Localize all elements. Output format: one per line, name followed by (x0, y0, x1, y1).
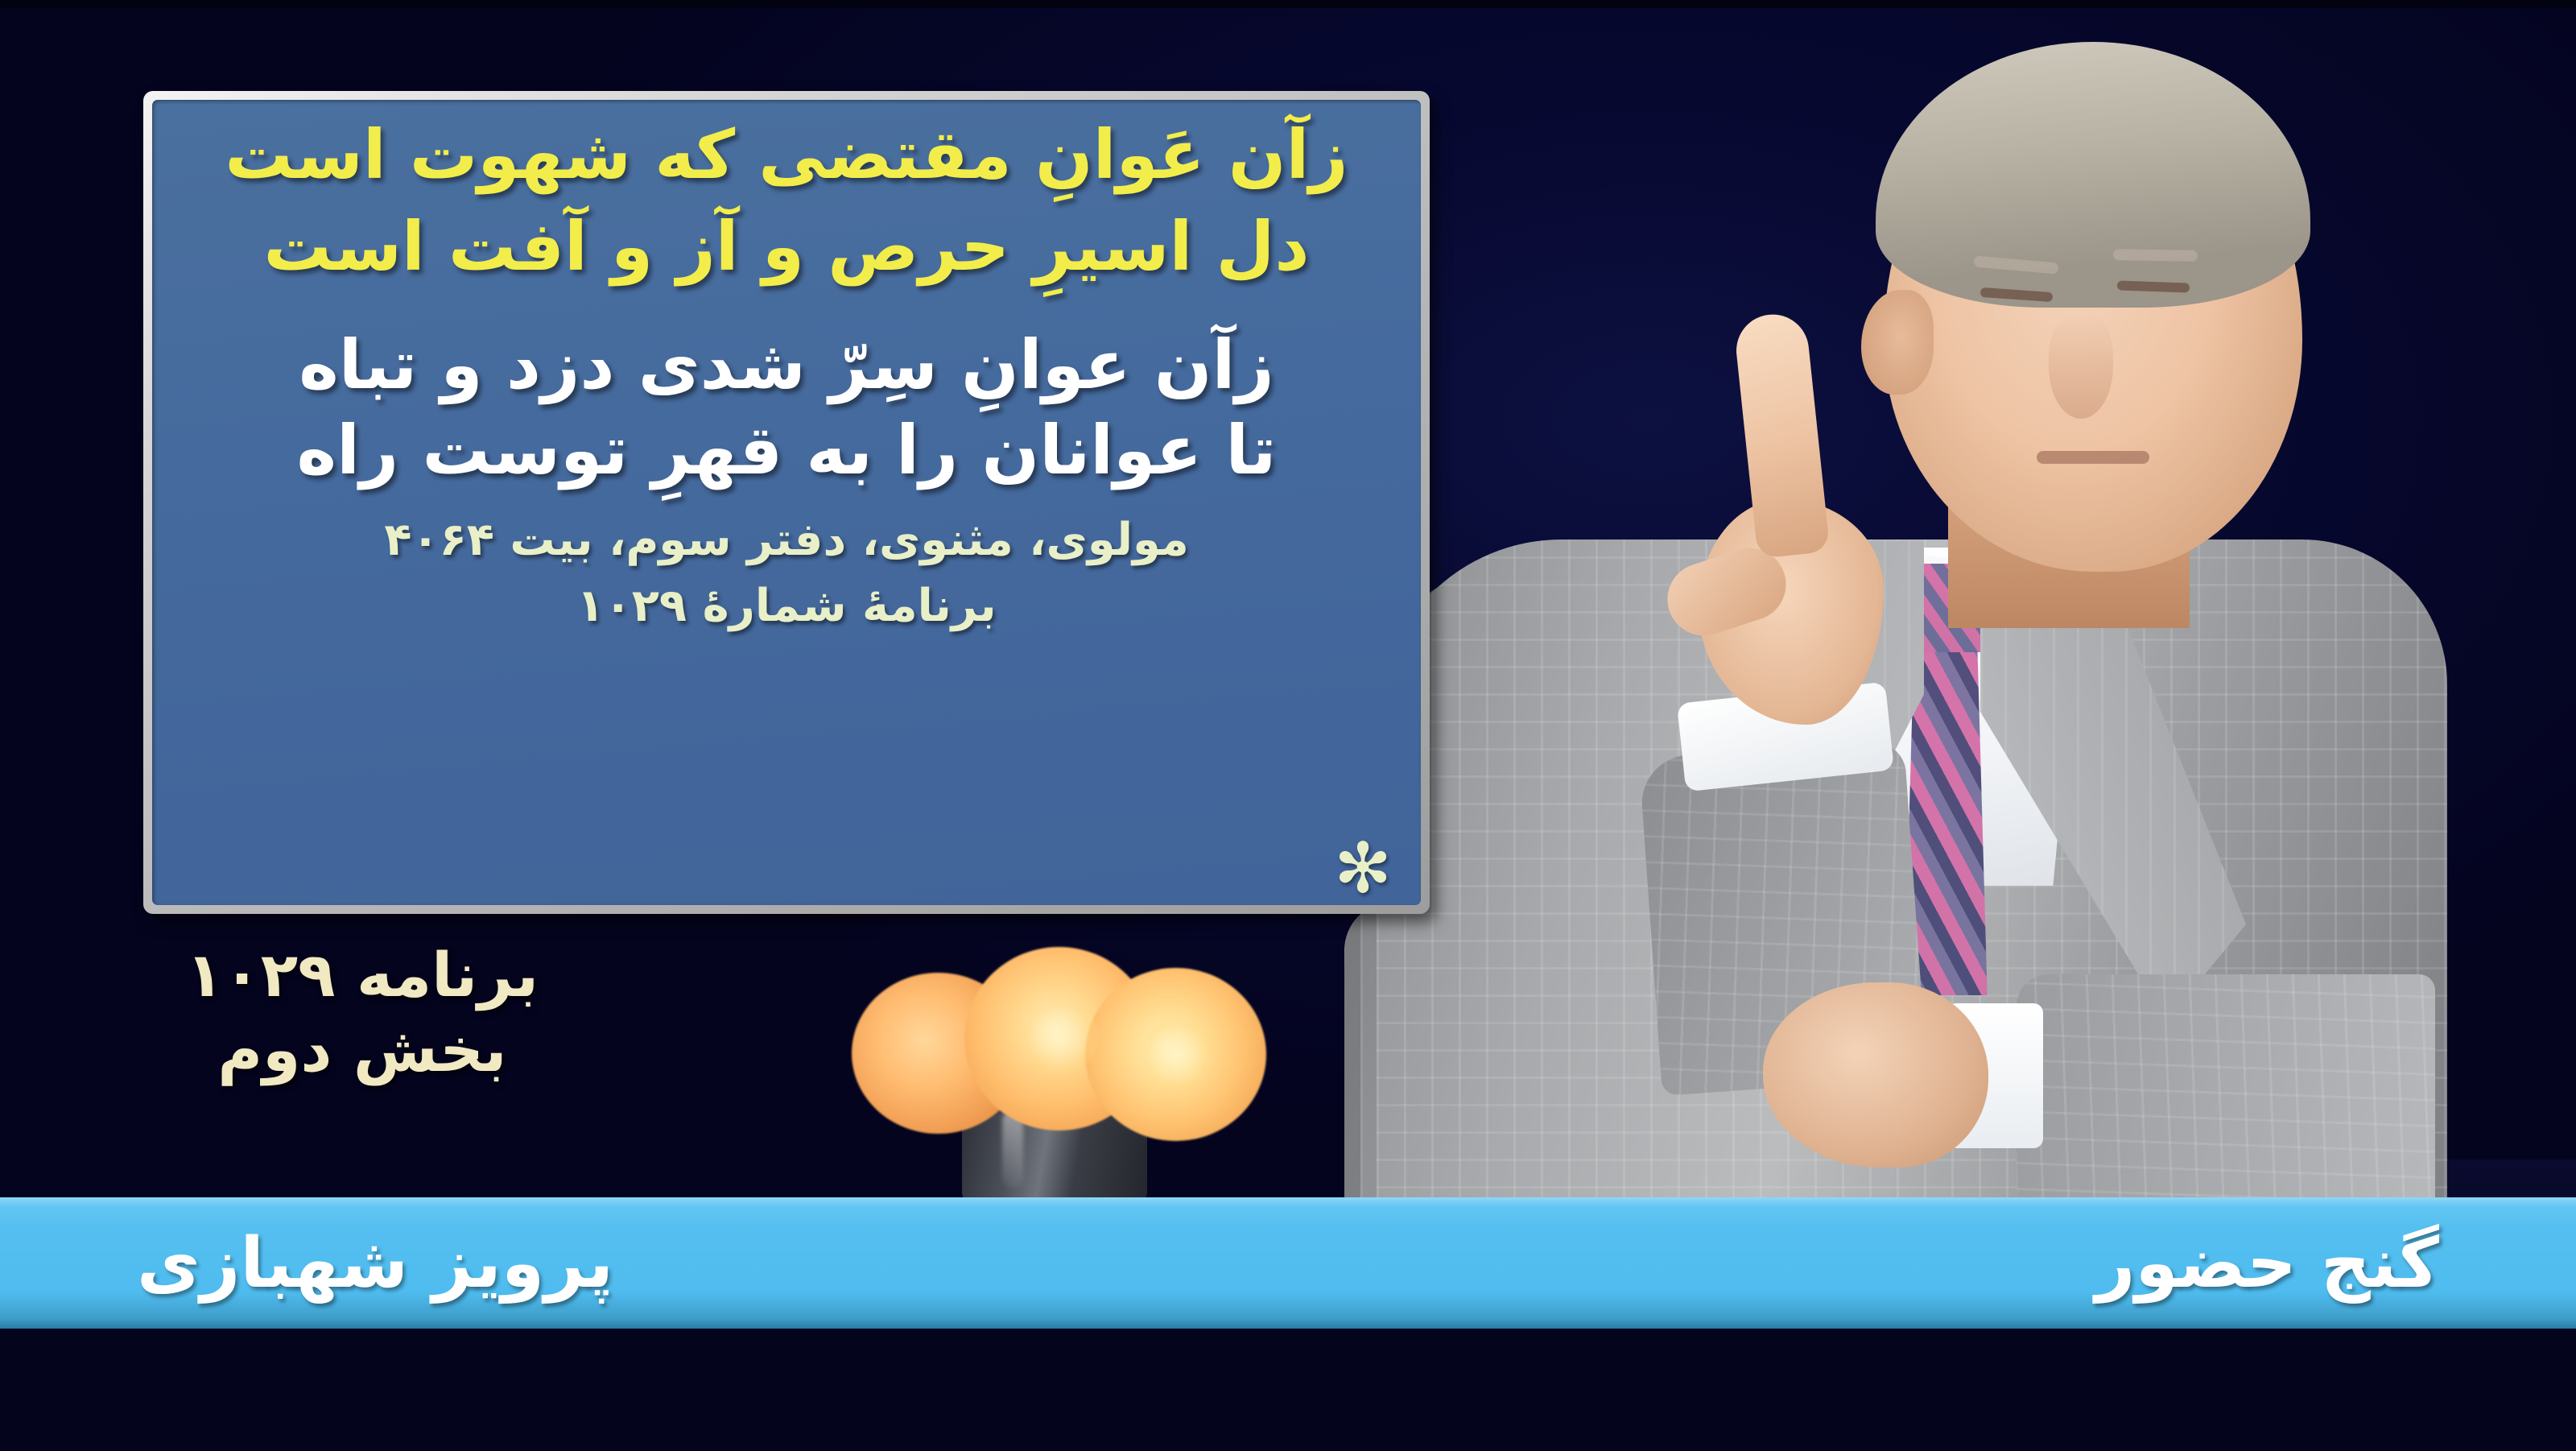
presenter-eyebrow-right (2113, 249, 2198, 262)
presenter-mouth (2037, 451, 2149, 464)
poem-verse-line-2: دل اسیرِ حرص و آز و آفت است (197, 213, 1376, 282)
program-title-label: گنج حضور (2095, 1223, 2439, 1304)
rose-right-core (1140, 1019, 1214, 1090)
poem-verse-line-1: زآن عَوانِ مقتضی که شهوت است (197, 121, 1376, 190)
presenter-name-label: پرویز شهبازی (137, 1223, 613, 1304)
presenter (1368, 48, 2576, 1208)
rose-bouquet (829, 926, 1280, 1200)
poem-slide: زآن عَوانِ مقتضی که شهوت است دل اسیرِ حر… (152, 100, 1421, 905)
poem-attribution-source: مولوی، مثنوی، دفتر سوم، بیت ۴۰۶۴ (197, 515, 1376, 566)
program-number-label: برنامه ۱۰۲۹ (153, 938, 572, 1013)
poem-verse-line-4: تا عوانان را به قهرِ توست راه (197, 416, 1376, 486)
presenter-nose (2049, 314, 2113, 419)
poem-attribution-program: برنامهٔ شمارهٔ ۱۰۲۹ (197, 581, 1376, 632)
presenter-left-sleeve (2017, 974, 2435, 1216)
program-part-label: بخش دوم (153, 1013, 572, 1088)
presenter-resting-hand (1731, 958, 2021, 1200)
presenter-hair (1876, 42, 2310, 308)
presenter-fist (1763, 982, 1988, 1168)
program-caption: برنامه ۱۰۲۹ بخش دوم (153, 938, 572, 1087)
bottom-letterbox (0, 1329, 2576, 1451)
poem-slide-frame: زآن عَوانِ مقتضی که شهوت است دل اسیرِ حر… (143, 91, 1430, 914)
rose-center-core (1021, 1000, 1098, 1074)
top-letterbox-edge (0, 0, 2576, 8)
asterisk-icon: ✻ (1334, 834, 1392, 903)
lower-third-banner: پرویز شهبازی گنج حضور (0, 1197, 2576, 1329)
video-frame: زآن عَوانِ مقتضی که شهوت است دل اسیرِ حر… (0, 0, 2576, 1451)
presenter-raised-hand (1666, 314, 1900, 733)
poem-verse-line-3: زآن عوانِ سِرّ شدی دزد و تباه (197, 331, 1376, 400)
